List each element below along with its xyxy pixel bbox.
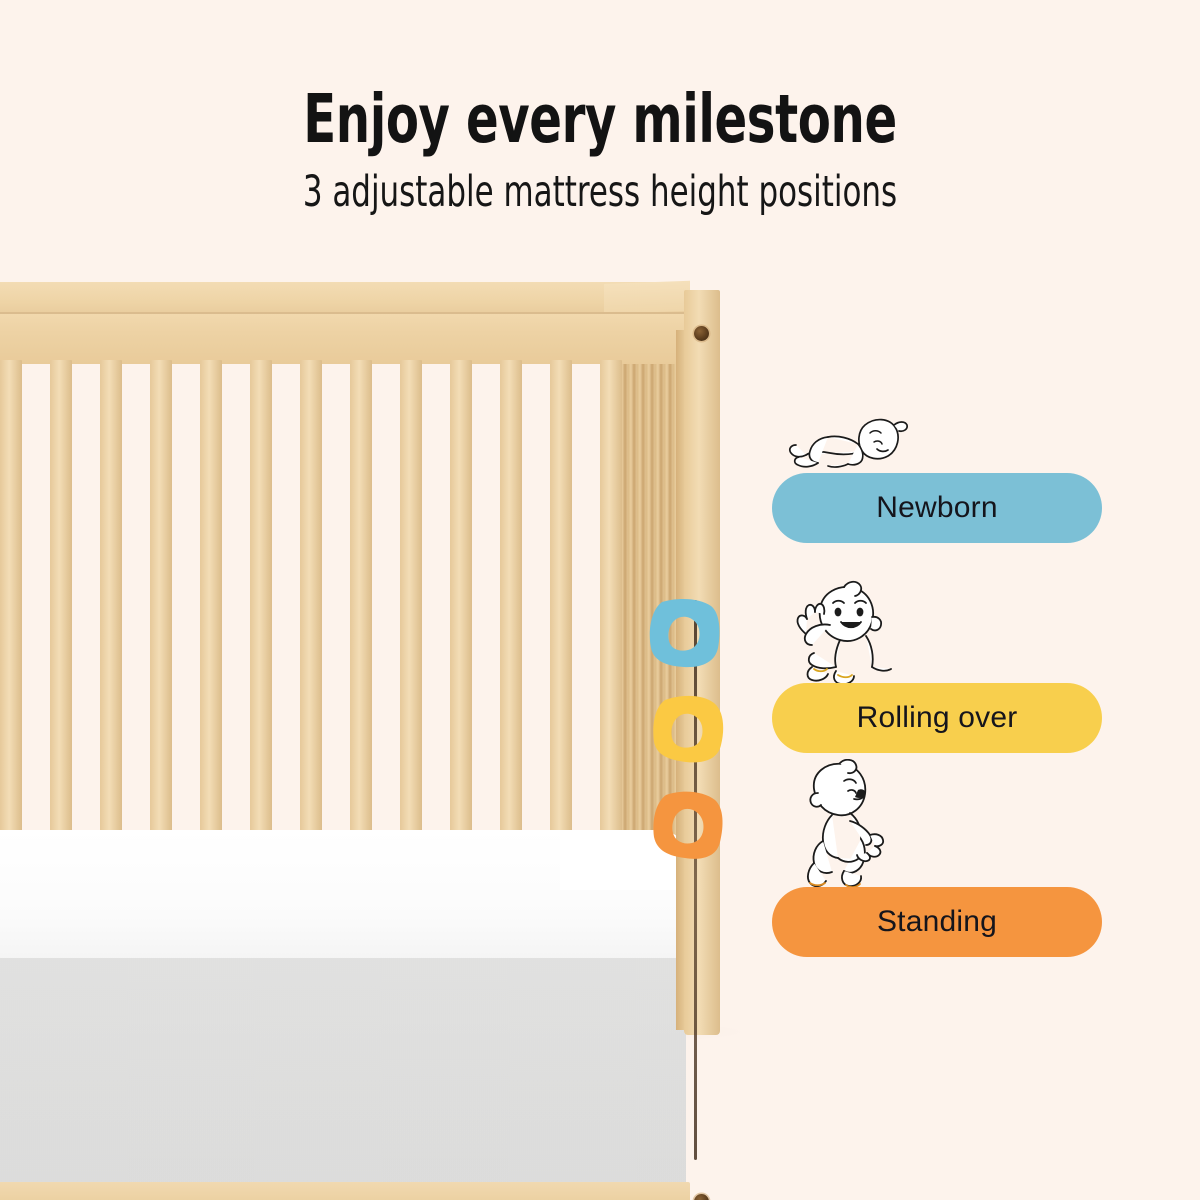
crib-slat: [600, 360, 622, 890]
height-marker-ring-rolling-over: [652, 692, 726, 766]
crib-slat: [300, 360, 322, 890]
milestone-pill-rolling-over[interactable]: Rolling over: [772, 683, 1102, 753]
baby-sitting-waving-icon: [786, 579, 898, 691]
crib-slat-group: [0, 360, 688, 890]
infographic-canvas: Enjoy every milestone 3 adjustable mattr…: [0, 0, 1200, 1200]
milestone-pill-standing[interactable]: Standing: [772, 887, 1102, 957]
crib-screw-icon: [694, 326, 709, 341]
crib-top-rail-seam: [0, 312, 690, 314]
crib-screw-icon: [694, 1194, 709, 1200]
crib-product-image: [0, 282, 745, 1042]
crib-slat: [200, 360, 222, 890]
height-marker-ring-standing: [652, 788, 726, 862]
crib-slat: [450, 360, 472, 890]
crib-slat: [150, 360, 172, 890]
crib-slat: [400, 360, 422, 890]
milestone-item-newborn: Newborn: [772, 473, 1102, 543]
crib-fabric-skirt: [0, 958, 686, 1198]
milestone-label: Newborn: [876, 493, 997, 523]
milestone-label: Standing: [877, 907, 997, 937]
milestone-item-standing: Standing: [772, 887, 1102, 957]
crib-top-rail-front: [0, 312, 690, 364]
mattress-height-markers: [648, 596, 734, 882]
header: Enjoy every milestone 3 adjustable mattr…: [0, 0, 1200, 214]
crib-slat: [500, 360, 522, 890]
milestone-item-rolling-over: Rolling over: [772, 683, 1102, 753]
crib-slat: [0, 360, 22, 890]
page-subtitle: 3 adjustable mattress height positions: [120, 171, 1080, 214]
crib-top-rail-return: [604, 281, 690, 314]
toddler-standing-walking-icon: [788, 759, 892, 895]
milestone-label: Rolling over: [857, 703, 1018, 733]
height-marker-ring-newborn: [648, 596, 722, 670]
crib-slat: [250, 360, 272, 890]
crib-bottom-rail: [0, 1182, 690, 1200]
milestone-list: Newborn: [772, 410, 1112, 990]
milestone-pill-newborn[interactable]: Newborn: [772, 473, 1102, 543]
crib-slat: [550, 360, 572, 890]
crib-slat: [50, 360, 72, 890]
crib-top-rail-back: [0, 282, 690, 316]
page-title: Enjoy every milestone: [120, 86, 1080, 153]
crib-slat: [100, 360, 122, 890]
crib-slat: [350, 360, 372, 890]
